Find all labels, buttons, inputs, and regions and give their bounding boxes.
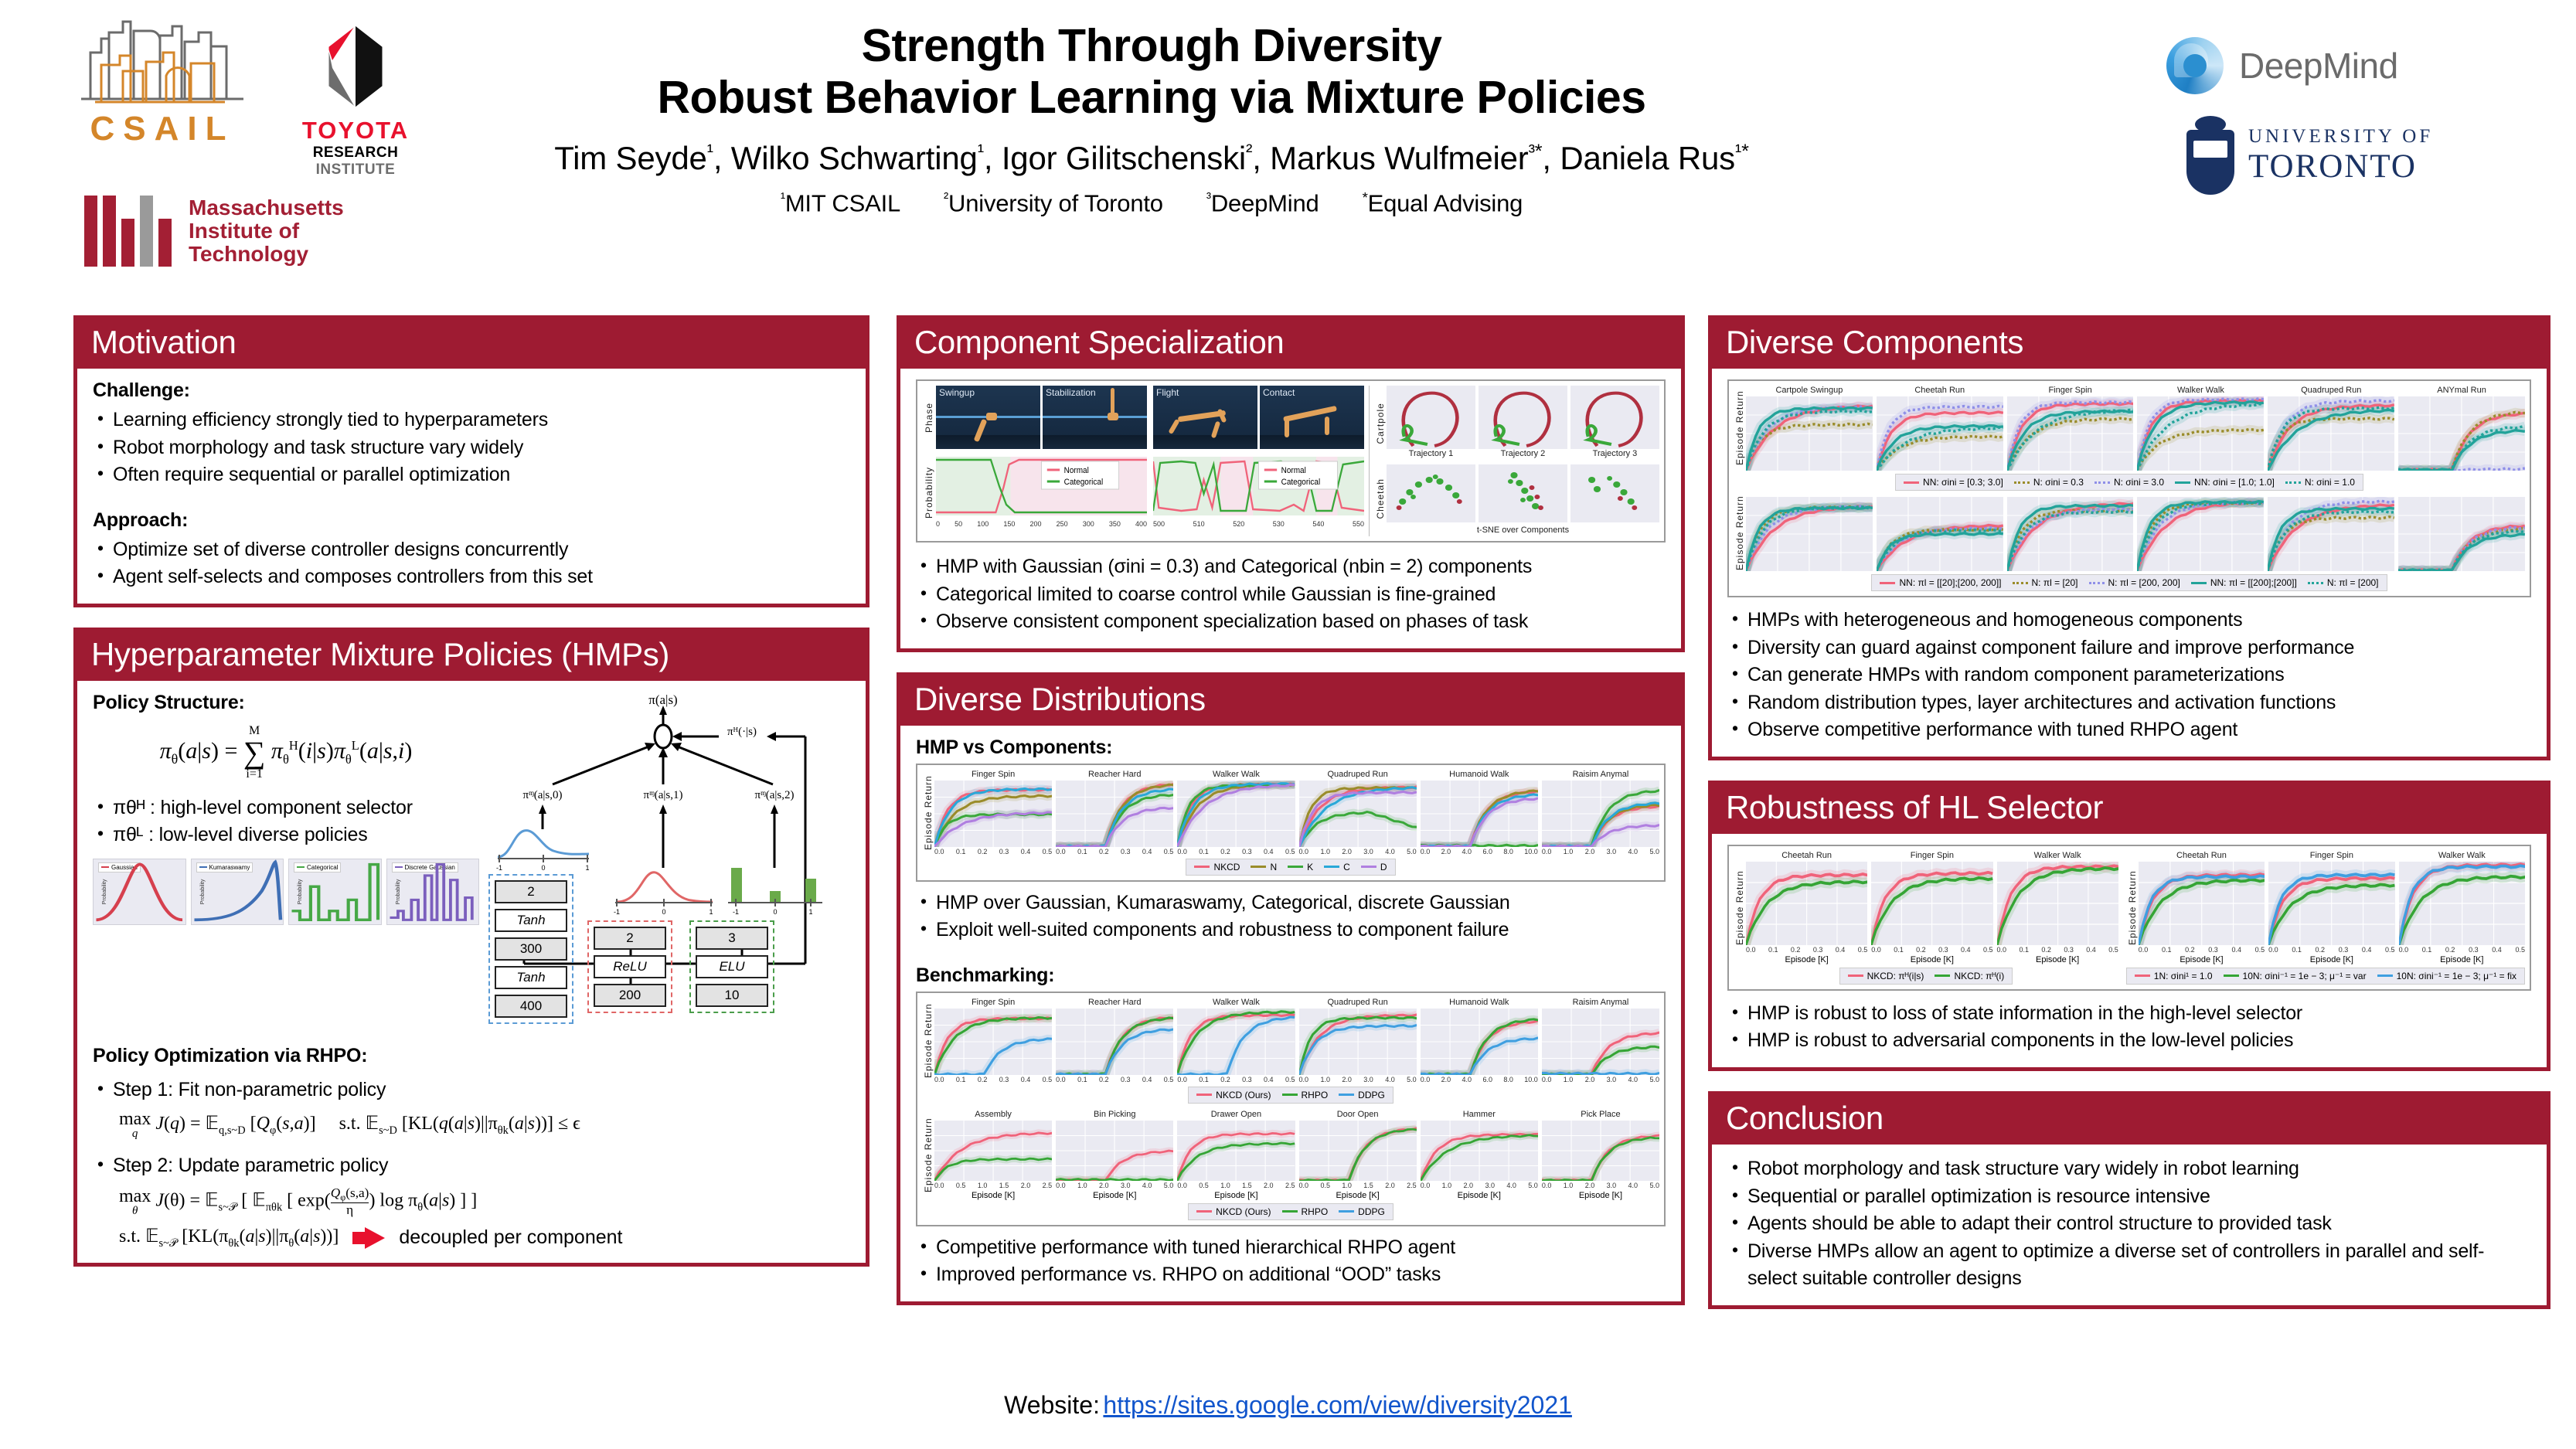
cs-xtick-l-2: 100 [977,520,989,528]
website-label: Website: [1004,1391,1100,1419]
distribution-card-kumaraswamy: ProbabilityKumaraswamy [191,859,284,925]
tri-research-text: RESEARCH [313,145,399,161]
panel-xlabel: Episode [K] [1056,1191,1173,1200]
phase-axis-label: Phase [922,386,936,449]
middle-column: Component Specialization Phase Probabili… [897,315,1685,1325]
mit-bars-icon [84,196,172,267]
branch-0-layer-4: 400 [495,995,567,1018]
legend-item-1: 10N: σini⁻¹ = 1e − 3; μ⁻¹ = var [2224,971,2367,981]
chart-panel-walker-walk: Walker Walk0.00.10.20.30.40.5 [1177,770,1295,855]
challenge-item-0: Learning efficiency strongly tied to hyp… [93,406,850,434]
chart-panel-cheetah-run: Cheetah Run [1877,386,2003,471]
panel-title: Finger Spin [1871,851,1992,860]
hmps-bullet-0: πθᴴ : high-level component selector [93,794,479,822]
panel-xlabel: Episode [K] [2399,955,2525,964]
panel-xticks: 0.00.10.20.30.40.5 [2399,946,2525,954]
panel-xticks: 0.00.10.20.30.40.5 [2268,946,2394,954]
diverse-distributions-bullets-1: HMP over Gaussian, Kumaraswamy, Categori… [916,889,1666,944]
chart-panel-assembly: Assembly0.00.51.01.52.02.5Episode [K] [934,1110,1052,1200]
mit-logo: Massachusetts Institute of Technology [84,196,506,267]
toyota-research-institute-logo: TOYOTA RESEARCH INSTITUTE [282,15,429,179]
legend-item-4: N: σini = 1.0 [2285,477,2355,488]
step2-constraint-row: s.t. 𝔼s~𝒫 [KL(πθk(a|s)||πθ(a|s))] decoup… [119,1225,850,1250]
left-logo-group: CSAIL TOYOTA RESEARCH INSTITUTE [73,15,506,267]
panel-title: Reacher Hard [1056,770,1173,779]
chart-panel-walker-walk: Walker Walk [2137,386,2264,471]
hmps-panel: Hyperparameter Mixture Policies (HMPs) P… [73,628,869,1267]
legend-item-2: N: σini = 3.0 [2094,477,2164,488]
dc-bullet-0: HMPs with heterogeneous and homogeneous … [1727,607,2531,634]
toronto-line-1: UNIVERSITY OF [2248,126,2433,148]
step1-equation: maxq J(q) = 𝔼q,s~D [Qφ(s,a)] s.t. 𝔼s~D [… [119,1110,850,1140]
cartpole-side-label: Cartpole [1374,386,1387,461]
panel-xlabel: Episode [K] [1421,1191,1538,1200]
dd-bullet-a-0: HMP over Gaussian, Kumaraswamy, Categori… [916,889,1666,917]
y-axis-label: Episode Return [2126,851,2139,964]
panel-xticks: 0.02.04.06.08.010.0 [1421,1076,1538,1083]
legend-item-0: NKCD: πᴴ(i|s) [1848,971,1924,981]
affiliation-0: ¹MIT CSAIL [781,189,900,217]
panel-title: Assembly [934,1110,1052,1119]
panel-title: Hammer [1421,1110,1538,1119]
diverse-components-body: Episode ReturnCartpole SwingupCheetah Ru… [1712,369,2547,757]
cartpole-swingup-frame: Swingup [936,386,1040,449]
legend-item-2: N: πl = [200, 200] [2089,577,2180,588]
cs-xtick-l-3: 150 [1003,520,1015,528]
conclusion-panel: Conclusion Robot morphology and task str… [1708,1091,2550,1309]
challenge-item-1: Robot morphology and task structure vary… [93,434,850,462]
chart-panel-drawer-open: Drawer Open0.00.51.01.52.02.5Episode [K] [1177,1110,1295,1200]
chart-panel- [1746,495,1873,571]
chart-panel-pick-place: Pick Place0.01.02.03.04.05.0Episode [K] [1542,1110,1659,1200]
branch-2-layer-0: 3 [696,927,768,950]
conclusion-title: Conclusion [1726,1100,2533,1136]
approach-list: Optimize set of diverse controller desig… [93,536,850,591]
chart-panel-reacher-hard: Reacher Hard0.00.10.20.30.40.5 [1056,998,1173,1083]
affiliation-2: ³DeepMind [1206,189,1319,217]
panel-xlabel: Episode [K] [1746,955,1867,964]
conclusion-body: Robot morphology and task structure vary… [1712,1145,2547,1305]
tri-institute-text: INSTITUTE [316,162,396,178]
approach-label: Approach: [93,509,850,532]
challenge-item-2: Often require sequential or parallel opt… [93,461,850,489]
legend-item-1: RHPO [1282,1090,1329,1100]
svg-text:Normal: Normal [1281,466,1306,476]
panel-xticks: 0.00.51.01.52.02.5 [934,1182,1052,1189]
diverse-components-chart: Episode ReturnCartpole SwingupCheetah Ru… [1727,379,2531,597]
panel-xlabel: Episode [K] [1997,955,2118,964]
legend-item-2: DDPG [1339,1206,1385,1217]
sum-lower-limit: i=1 [243,768,266,781]
branch-0-label: πᶬ(a|s,0) [522,789,562,801]
svg-text:0: 0 [773,908,777,916]
panel-xticks: 0.00.10.20.30.40.5 [1871,946,1992,954]
panel-xticks: 0.00.10.20.30.40.5 [1056,848,1173,855]
panel-title: Walker Walk [1177,770,1295,779]
panel-xlabel: Episode [K] [1177,1191,1295,1200]
optimization-steps: Step 1: Fit non-parametric policy [93,1077,850,1104]
robustness-right-block: Episode ReturnCheetah Run0.00.10.20.30.4… [2126,851,2525,985]
legend-item-0: 1N: σini¹ = 1.0 [2135,971,2213,981]
poster-title: Strength Through Diversity Robust Behavi… [495,20,1809,124]
chart-panel-humanoid-walk: Humanoid Walk0.02.04.06.08.010.0 [1421,998,1538,1083]
diverse-distributions-bullets-2: Competitive performance with tuned hiera… [916,1234,1666,1289]
panel-xticks: 0.00.10.20.30.40.5 [2139,946,2265,954]
chart-panel-finger-spin: Finger Spin0.00.10.20.30.40.5Episode [K] [2268,851,2394,964]
website-link[interactable]: https://sites.google.com/view/diversity2… [1103,1391,1572,1419]
legend-item-0: NKCD [1194,862,1240,872]
chart-panel-reacher-hard: Reacher Hard0.00.10.20.30.40.5 [1056,770,1173,855]
distribution-thumbnails: ProbabilityGaussianProbabilityKumaraswam… [93,859,479,925]
legend-item-1: N [1251,862,1277,872]
panel-title: Walker Walk [1997,851,2118,860]
panel-xticks: 0.00.10.20.30.40.5 [1177,1076,1295,1083]
motivation-body: Challenge: Learning efficiency strongly … [77,369,866,604]
toronto-crest-icon [2186,116,2234,195]
dc-bullet-2: Can generate HMPs with random component … [1727,662,2531,689]
title-block: Strength Through Diversity Robust Behavi… [495,20,1809,217]
chart-panel-humanoid-walk: Humanoid Walk0.02.04.06.08.010.0 [1421,770,1538,855]
deepmind-logo: DeepMind [2166,37,2506,94]
trajectory-1-title: Trajectory 1 [1387,449,1475,458]
hmp-vs-components-label: HMP vs Components: [916,736,1666,759]
component-spec-bullet-1: Categorical limited to coarse control wh… [916,581,1666,609]
motivation-title: Motivation [91,325,852,360]
cs-xtick-r-2: 520 [1233,520,1244,528]
cheetah-side-label: Cheetah [1374,461,1387,537]
panel-xticks: 0.00.51.01.52.02.5 [1177,1182,1295,1189]
y-axis-label: Episode Return [1734,851,1746,964]
chart-panel-quadruped-run: Quadruped Run0.01.02.03.04.05.0 [1299,998,1417,1083]
panel-title: Cheetah Run [1746,851,1867,860]
dd-bullet-a-1: Exploit well-suited components and robus… [916,917,1666,944]
chart-panel- [1877,495,2003,571]
svg-text:1: 1 [808,908,812,916]
tsne-plot-2 [1479,464,1567,522]
mit-line-3: Technology [189,243,344,266]
chart-panel-cheetah-run: Cheetah Run0.00.10.20.30.40.5Episode [K] [2139,851,2265,964]
chart-panel-raisim-anymal: Raisim Anymal0.01.02.03.04.05.0 [1542,998,1659,1083]
hmps-network-diagram: π(a|s) πᴴ(·|s) [487,692,827,1028]
challenge-list: Learning efficiency strongly tied to hyp… [93,406,850,489]
chart-panel-finger-spin: Finger Spin0.00.10.20.30.40.5 [934,998,1052,1083]
chart-panel-cheetah-run: Cheetah Run0.00.10.20.30.40.5Episode [K] [1746,851,1867,964]
motivation-header: Motivation [77,319,866,369]
branch-2-network: 3 ELU 10 [689,920,774,1013]
panel-xticks: 0.01.02.03.04.05.0 [1542,848,1659,855]
svg-text:-1: -1 [496,864,502,872]
frame-label-contact: Contact [1263,387,1295,398]
component-specialization-header: Component Specialization [900,319,1681,369]
legend-item-0: NKCD (Ours) [1196,1206,1271,1217]
chart-panel- [2137,495,2264,571]
panel-title: Humanoid Walk [1421,998,1538,1007]
y-axis-label: Episode Return [922,770,934,855]
chart-panel-anymal-run: ANYmal Run [2398,386,2525,471]
y-axis-label: Episode Return [1734,386,1746,471]
decoupled-note: decoupled per component [399,1226,622,1249]
distribution-card-discrete-gaussian: ProbabilityDiscrete Gaussian [386,859,480,925]
tsne-plot-3 [1570,464,1659,522]
panel-title: Quadruped Run [1299,998,1417,1007]
mit-wordmark: Massachusetts Institute of Technology [189,196,344,267]
dc-bullet-1: Diversity can guard against component fa… [1727,634,2531,662]
y-axis-label: Episode Return [922,998,934,1083]
svg-text:1: 1 [585,864,589,872]
hmps-body: Policy Structure: πθ(a|s) = M ∑ i=1 [77,681,866,1263]
panel-xticks: 0.01.02.03.04.05.0 [1421,1182,1538,1189]
cartpole-stabilization-frame: Stabilization [1043,386,1147,449]
chart-panel-walker-walk: Walker Walk0.00.10.20.30.40.5Episode [K] [2399,851,2525,964]
chart-panel-finger-spin: Finger Spin0.00.10.20.30.40.5 [934,770,1052,855]
right-column: Diverse Components Episode ReturnCartpol… [1708,315,2550,1329]
deepmind-mark-icon [2166,37,2224,94]
trajectory-2: Trajectory 2 [1479,386,1567,460]
dd-bullet-b-1: Improved performance vs. RHPO on additio… [916,1261,1666,1289]
step2-equation: maxθ J(θ) = 𝔼s~𝒫 [ 𝔼πθk [ exp( Qφ(s,a)η … [119,1186,850,1217]
rb-bullet-0: HMP is robust to loss of state informati… [1727,1000,2531,1028]
hmp-vs-components-chart: Episode ReturnFinger Spin0.00.10.20.30.4… [916,764,1666,882]
panel-xticks: 0.02.04.06.08.010.0 [1421,848,1538,855]
panel-xticks: 0.01.02.03.04.05.0 [1299,1076,1417,1083]
title-line-2: Robust Behavior Learning via Mixture Pol… [495,72,1809,124]
panel-title: Quadruped Run [2268,386,2394,395]
branch-1-label: πᶬ(a|s,1) [643,789,682,801]
branch-0-layer-2: 300 [495,937,567,961]
robustness-panel: Robustness of HL Selector Episode Return… [1708,781,2550,1071]
toyota-wordmark: TOYOTA [282,117,429,145]
chart-legend: NKCD (Ours)RHPODDPG [1188,1087,1393,1104]
frame-label-swingup: Swingup [939,387,975,398]
branch-1-layer-1: ReLU [594,955,666,978]
y-axis-label: Episode Return [1734,495,1746,571]
robustness-header: Robustness of HL Selector [1712,784,2547,834]
component-spec-bullet-2: Observe consistent component specializat… [916,608,1666,636]
svg-text:-1: -1 [733,908,739,916]
chart-panel- [2268,495,2394,571]
branch-1-network: 2 ReLU 200 [587,920,672,1013]
step1-label: Step 1: Fit non-parametric policy [93,1077,850,1104]
y-axis-label: Episode Return [922,1110,934,1200]
legend-item-0: NN: πl = [[20];[200, 200]] [1880,577,2001,588]
chart-panel-quadruped-run: Quadruped Run [2268,386,2394,471]
conclusion-header: Conclusion [1712,1095,2547,1145]
panel-title: Raisim Anymal [1542,998,1659,1007]
chart-panel- [2398,495,2525,571]
legend-item-0: NKCD (Ours) [1196,1090,1271,1100]
cs-xtick-l-4: 200 [1029,520,1041,528]
affiliation-1: ²University of Toronto [944,189,1163,217]
policy-equation: πθ(a|s) = M ∑ i=1 πθH(i|s)πθL(a|s,i) [93,725,479,781]
diverse-components-header: Diverse Components [1712,319,2547,369]
hmps-bullet-list: πθᴴ : high-level component selectorπθᴸ :… [93,794,479,849]
svg-text:Categorical: Categorical [1064,478,1104,488]
legend-item-4: D [1361,862,1387,872]
legend-item-1: RHPO [1282,1206,1329,1217]
legend-item-1: N: σini = 0.3 [2014,477,2084,488]
trajectory-3: Trajectory 3 [1570,386,1659,460]
dd-bullet-b-0: Competitive performance with tuned hiera… [916,1234,1666,1262]
panel-xticks: 0.00.10.20.30.40.5 [1056,1076,1173,1083]
cartpole-xticks: 050100150200250300350400 [936,520,1147,528]
cs-xtick-l-0: 0 [936,520,940,528]
branch-2-layer-2: 10 [696,984,768,1007]
branch-0-layer-0: 2 [495,880,567,903]
affiliation-list: ¹MIT CSAIL²University of Toronto³DeepMin… [495,189,1809,217]
tri-subwordmark: RESEARCH INSTITUTE [282,145,429,179]
cartpole-probability-plot: Normal Categorical [936,457,1147,515]
diverse-components-bullets: HMPs with heterogeneous and homogeneous … [1727,607,2531,744]
approach-item-1: Agent self-selects and composes controll… [93,563,850,591]
branch-1-layer-0: 2 [594,927,666,950]
diverse-distributions-panel: Diverse Distributions HMP vs Components:… [897,672,1685,1305]
branch-2-label: πᶬ(a|s,2) [754,789,794,801]
branch-0-network: 2 Tanh 300 Tanh 400 [488,874,573,1024]
svg-text:Normal: Normal [1064,466,1089,476]
cs-xtick-r-5: 550 [1353,520,1364,528]
mit-line-2: Institute of [189,219,344,243]
cheetah-probability-plot: Normal Categorical [1153,457,1364,515]
right-logo-group: DeepMind UNIVERSITY OF TORONTO [2166,37,2506,195]
diverse-distributions-title: Diverse Distributions [914,682,1667,717]
panel-title: Humanoid Walk [1421,770,1538,779]
tri-mark-icon [282,20,429,117]
dc-bullet-3: Random distribution types, layer archite… [1727,689,2531,717]
panel-title: Walker Walk [2399,851,2525,860]
component-spec-bullet-0: HMP with Gaussian (σini = 0.3) and Categ… [916,553,1666,581]
component-specialization-panel: Component Specialization Phase Probabili… [897,315,1685,652]
cs-xtick-r-3: 530 [1273,520,1285,528]
poster-footer: Website: https://sites.google.com/view/d… [0,1391,2576,1420]
branch-1-layer-2: 200 [594,984,666,1007]
decoupled-arrow-icon [352,1227,385,1249]
optimization-label: Policy Optimization via RHPO: [93,1045,850,1067]
cs-xtick-l-1: 50 [955,520,962,528]
chart-panel-finger-spin: Finger Spin [2007,386,2134,471]
chart-legend: NKCD (Ours)RHPODDPG [1188,1203,1393,1220]
svg-text:Categorical: Categorical [1281,478,1321,488]
chart-panel-finger-spin: Finger Spin0.00.10.20.30.40.5Episode [K] [1871,851,1992,964]
panel-title: Finger Spin [934,998,1052,1007]
chart-panel-walker-walk: Walker Walk0.00.10.20.30.40.5Episode [K] [1997,851,2118,964]
conclusion-bullet-2: Agents should be able to adapt their con… [1727,1210,2531,1238]
trajectory-2-title: Trajectory 2 [1479,449,1567,458]
robustness-body: Episode ReturnCheetah Run0.00.10.20.30.4… [1712,834,2547,1067]
cs-xtick-l-7: 350 [1109,520,1121,528]
panel-xticks: 0.01.02.03.04.05.0 [1299,848,1417,855]
panel-title: Reacher Hard [1056,998,1173,1007]
cheetah-xticks: 500510520530540550 [1153,520,1364,528]
csail-logo: CSAIL [73,15,251,148]
trajectory-3-title: Trajectory 3 [1570,449,1659,458]
cheetah-flight-frame: Flight [1153,386,1257,449]
poster-header: CSAIL TOYOTA RESEARCH INSTITUTE [0,0,2576,309]
cs-xtick-l-5: 250 [1057,520,1068,528]
chart-legend: NKCD: πᴴ(i|s)NKCD: πᴴ(i) [1839,968,2013,985]
distribution-card-gaussian: ProbabilityGaussian [93,859,186,925]
legend-item-3: NN: σini = [1.0; 1.0] [2175,477,2275,488]
panel-xlabel: Episode [K] [934,1191,1052,1200]
panel-title: Cheetah Run [2139,851,2265,860]
svg-text:0: 0 [541,864,545,872]
component-specialization-figure: Phase Probability Swingup [916,379,1666,543]
csail-wordmark: CSAIL [73,110,251,148]
robustness-bullets: HMP is robust to loss of state informati… [1727,1000,2531,1055]
approach-item-0: Optimize set of diverse controller desig… [93,536,850,564]
legend-item-2: K [1288,862,1313,872]
panel-title: Cheetah Run [1877,386,2003,395]
policy-structure-label: Policy Structure: [93,692,479,714]
panel-xticks: 0.01.02.03.04.05.0 [1542,1076,1659,1083]
robustness-title: Robustness of HL Selector [1726,790,2533,825]
panel-title: Quadruped Run [1299,770,1417,779]
robustness-chart: Episode ReturnCheetah Run0.00.10.20.30.4… [1727,845,2531,991]
chart-legend: NKCDNKCD [1186,859,1395,876]
panel-title: Walker Walk [2137,386,2264,395]
diverse-components-panel: Diverse Components Episode ReturnCartpol… [1708,315,2550,760]
panel-title: Finger Spin [934,770,1052,779]
branch-0-layer-3: Tanh [495,966,567,989]
chart-panel-hammer: Hammer0.01.02.03.04.05.0Episode [K] [1421,1110,1538,1200]
legend-item-3: C [1324,862,1350,872]
cs-xtick-l-6: 300 [1083,520,1094,528]
diagram-top-label: π(a|s) [648,692,677,707]
svg-text:-1: -1 [614,908,620,916]
frame-label-stabilization: Stabilization [1046,387,1096,398]
legend-item-1: NKCD: πᴴ(i) [1935,971,2004,981]
trajectory-1: Trajectory 1 [1387,386,1475,460]
dc-bullet-4: Observe competitive performance with tun… [1727,716,2531,744]
panel-xticks: 0.00.10.20.30.40.5 [934,848,1052,855]
panel-title: Raisim Anymal [1542,770,1659,779]
frame-label-flight: Flight [1156,387,1179,398]
panel-xlabel: Episode [K] [1542,1191,1659,1200]
diverse-distributions-header: Diverse Distributions [900,676,1681,726]
chart-panel-raisim-anymal: Raisim Anymal0.01.02.03.04.05.0 [1542,770,1659,855]
panel-title: Door Open [1299,1110,1417,1119]
csail-skyline-icon [73,15,251,107]
legend-item-0: NN: σini = [0.3; 3.0] [1904,477,2003,488]
branch-0-layer-1: Tanh [495,909,567,932]
component-specialization-body: Phase Probability Swingup [900,369,1681,648]
branch-2-layer-1: ELU [696,955,768,978]
panel-xlabel: Episode [K] [1299,1191,1417,1200]
step2-label: Step 2: Update parametric policy [93,1152,850,1180]
panel-title: Cartpole Swingup [1746,386,1873,395]
diverse-components-title: Diverse Components [1726,325,2533,360]
chart-panel-cartpole-swingup: Cartpole Swingup [1746,386,1873,471]
legend-item-2: DDPG [1339,1090,1385,1100]
diagram-selector-label: πᴴ(·|s) [727,726,757,738]
hmps-title: Hyperparameter Mixture Policies (HMPs) [91,637,852,672]
hmps-left-content: Policy Structure: πθ(a|s) = M ∑ i=1 [93,692,479,1028]
chart-panel-quadruped-run: Quadruped Run0.01.02.03.04.05.0 [1299,770,1417,855]
toronto-line-2: TORONTO [2248,148,2433,185]
legend-item-2: 10N: σini⁻¹ = 1e − 3; μ⁻¹ = fix [2377,971,2516,981]
cs-xtick-r-4: 540 [1312,520,1324,528]
panel-xticks: 0.00.10.20.30.40.5 [934,1076,1052,1083]
panel-title: Finger Spin [2268,851,2394,860]
panel-xlabel: Episode [K] [1871,955,1992,964]
panel-xlabel: Episode [K] [2268,955,2394,964]
panel-xticks: 0.00.10.20.30.40.5 [1997,946,2118,954]
affiliation-3: *Equal Advising [1363,189,1523,217]
deepmind-wordmark: DeepMind [2239,45,2398,87]
university-of-toronto-logo: UNIVERSITY OF TORONTO [2186,116,2506,195]
mit-line-1: Massachusetts [189,196,344,219]
chart-panel-door-open: Door Open0.00.51.01.52.02.5Episode [K] [1299,1110,1417,1200]
author-list: Tim Seyde¹, Wilko Schwarting¹, Igor Gili… [495,140,1809,177]
